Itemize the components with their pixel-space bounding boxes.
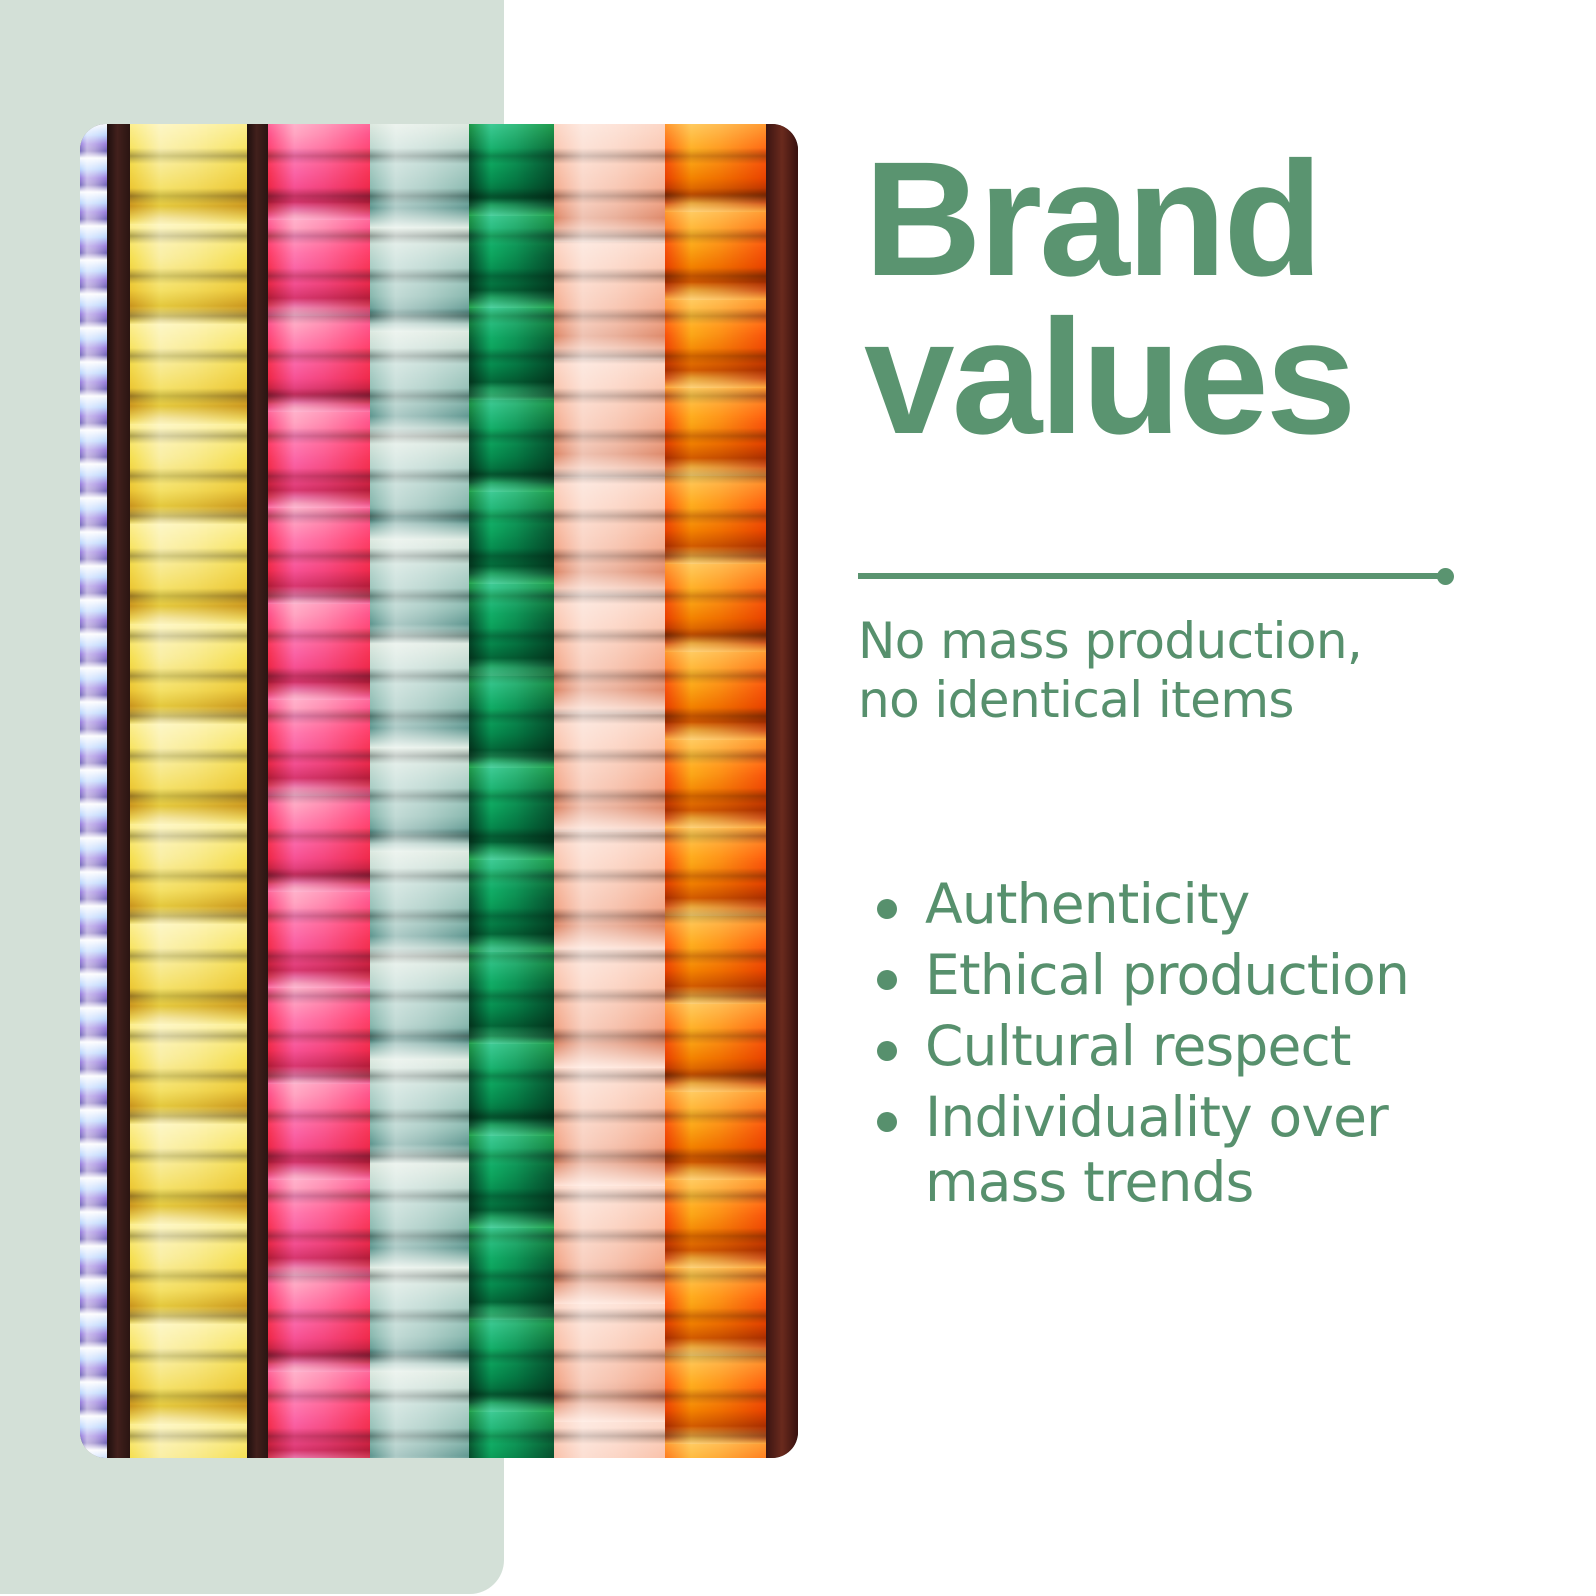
content-column: Brand values No mass production, no iden… bbox=[858, 0, 1478, 1596]
gloss-overlay bbox=[554, 124, 665, 1458]
gloss-overlay bbox=[370, 124, 469, 1458]
bead-column bbox=[766, 124, 798, 1458]
poster-canvas: Brand values No mass production, no iden… bbox=[0, 0, 1596, 1596]
list-item: Individuality over mass trends bbox=[868, 1085, 1478, 1215]
list-item: Authenticity bbox=[868, 872, 1478, 937]
strand-pink-opal bbox=[268, 124, 371, 1458]
bullet-dot-icon bbox=[877, 1112, 897, 1132]
list-item-label: Cultural respect bbox=[925, 1014, 1351, 1078]
bead-column bbox=[107, 124, 129, 1458]
brand-values-list: Authenticity Ethical production Cultural… bbox=[868, 872, 1478, 1220]
strand-dark-gap-2 bbox=[247, 124, 268, 1458]
strand-opal-iridescent bbox=[80, 124, 107, 1458]
gloss-overlay bbox=[130, 124, 247, 1458]
divider-end-dot-icon bbox=[1437, 568, 1454, 585]
bullet-dot-icon bbox=[877, 1041, 897, 1061]
divider-line bbox=[858, 573, 1446, 579]
bead-column bbox=[247, 124, 268, 1458]
strand-dark-gap bbox=[107, 124, 129, 1458]
list-item: Ethical production bbox=[868, 943, 1478, 1008]
gloss-overlay bbox=[80, 124, 107, 1458]
bead-strands-photo bbox=[80, 124, 798, 1458]
bullet-dot-icon bbox=[877, 970, 897, 990]
list-item-label: Individuality over mass trends bbox=[925, 1085, 1388, 1214]
gloss-overlay bbox=[469, 124, 554, 1458]
strand-pale-green-amazonite bbox=[370, 124, 469, 1458]
divider bbox=[858, 567, 1454, 585]
strand-peach-pink-opal bbox=[554, 124, 665, 1458]
bead-strand-group bbox=[80, 124, 798, 1458]
list-item-label: Ethical production bbox=[925, 943, 1409, 1007]
page-title: Brand values bbox=[864, 140, 1484, 456]
gloss-overlay bbox=[268, 124, 371, 1458]
strand-orange-carnelian bbox=[665, 124, 766, 1458]
strand-dark-red-edge bbox=[766, 124, 798, 1458]
list-item-label: Authenticity bbox=[925, 872, 1249, 936]
bullet-dot-icon bbox=[877, 899, 897, 919]
strand-emerald-green bbox=[469, 124, 554, 1458]
subtitle: No mass production, no identical items bbox=[858, 612, 1478, 729]
list-item: Cultural respect bbox=[868, 1014, 1478, 1079]
strand-yellow-opal bbox=[130, 124, 247, 1458]
gloss-overlay bbox=[665, 124, 766, 1458]
